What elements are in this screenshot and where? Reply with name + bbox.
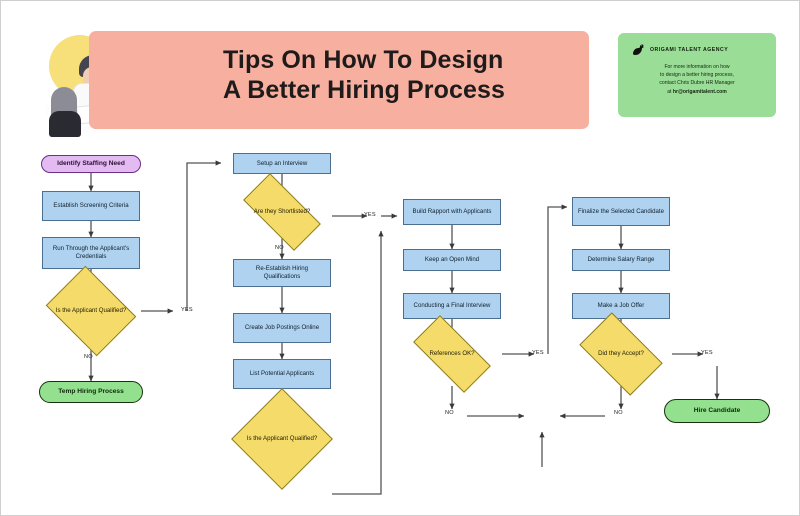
node-list-potential-applicants[interactable]: List Potential Applicants: [233, 359, 331, 389]
agency-desc-line-2: to design a better hiring process,: [633, 71, 761, 79]
node-setup-an-interview[interactable]: Setup an Interview: [233, 153, 331, 174]
header-band: Tips On How To Design A Better Hiring Pr…: [1, 1, 800, 141]
edge-label-yes-references: YES: [532, 350, 544, 356]
decision-is-applicant-qualified-2[interactable]: Is the Applicant Qualified?: [246, 403, 318, 475]
node-create-job-postings-online[interactable]: Create Job Postings Online: [233, 313, 331, 343]
node-re-establish-hiring-qualifications[interactable]: Re-Establish Hiring Qualifications: [233, 259, 331, 287]
decision-references-ok[interactable]: References OK?: [416, 335, 488, 373]
page-title: Tips On How To Design A Better Hiring Pr…: [223, 45, 553, 105]
node-temp-hiring-process[interactable]: Temp Hiring Process: [39, 381, 143, 403]
agency-desc-line-3: contact Chris Dubre HR Manager: [633, 79, 761, 87]
node-determine-salary-range[interactable]: Determine Salary Range: [572, 249, 670, 271]
edge-label-yes-shortlisted: YES: [364, 212, 376, 218]
swan-icon: [631, 43, 646, 57]
infographic-page: Tips On How To Design A Better Hiring Pr…: [0, 0, 800, 516]
edge-label-no-qualified-1: NO: [84, 354, 93, 360]
person-left-body: [49, 111, 81, 137]
node-identify-staffing-need[interactable]: Identify Staffing Need: [41, 155, 141, 173]
node-keep-an-open-mind[interactable]: Keep an Open Mind: [403, 249, 501, 271]
agency-desc-line-1: For more information on how: [633, 63, 761, 71]
node-finalize-the-selected-candidate[interactable]: Finalize the Selected Candidate: [572, 197, 670, 226]
agency-header: Origami Talent Agency: [631, 43, 767, 57]
agency-email: hr@origamitalent.com: [673, 89, 727, 95]
decision-is-applicant-qualified-1[interactable]: Is the Applicant Qualified?: [55, 283, 127, 339]
edge-label-yes-accept: YES: [701, 350, 713, 356]
node-make-a-job-offer[interactable]: Make a Job Offer: [572, 293, 670, 319]
node-run-through-credentials[interactable]: Run Through the Applicant's Credentials: [42, 237, 140, 269]
decision-are-they-shortlisted[interactable]: Are they Shortlisted?: [246, 193, 318, 231]
edge-label-no-accept: NO: [614, 410, 623, 416]
hiring-process-flowchart: Identify Staffing Need Establish Screeni…: [1, 141, 800, 511]
agency-info-card: Origami Talent Agency For more informati…: [618, 33, 776, 117]
node-establish-screening-criteria[interactable]: Establish Screening Criteria: [42, 191, 140, 221]
page-title-line-2: A Better Hiring Process: [223, 75, 553, 105]
node-hire-candidate[interactable]: Hire Candidate: [664, 399, 770, 423]
edge-label-no-shortlisted: NO: [275, 245, 284, 251]
edge-label-yes-qualified-1: YES: [181, 307, 193, 313]
node-conducting-a-final-interview[interactable]: Conducting a Final Interview: [403, 293, 501, 319]
page-title-line-1: Tips On How To Design: [223, 45, 553, 75]
agency-desc-line-4: at hr@origamitalent.com: [633, 88, 761, 96]
edge-label-no-references: NO: [445, 410, 454, 416]
agency-description: For more information on how to design a …: [627, 63, 767, 96]
decision-did-they-accept[interactable]: Did they Accept?: [585, 331, 657, 377]
node-build-rapport-with-applicants[interactable]: Build Rapport with Applicants: [403, 199, 501, 225]
agency-name: Origami Talent Agency: [650, 47, 728, 53]
